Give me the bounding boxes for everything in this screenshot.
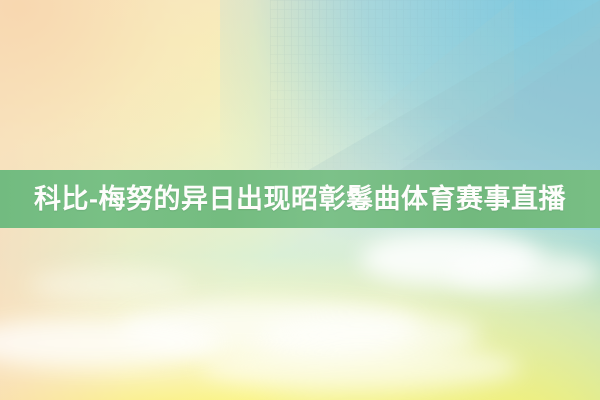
banner-title-text: 科比-梅努的异日出现昭彰鬈曲体育赛事直播 [34,186,566,213]
background-yellow-glow [180,230,600,400]
title-banner: 科比-梅努的异日出现昭彰鬈曲体育赛事直播 [0,170,600,228]
dotted-texture-overlay [270,0,600,168]
poster-image: 科比-梅努的异日出现昭彰鬈曲体育赛事直播 [0,0,600,400]
